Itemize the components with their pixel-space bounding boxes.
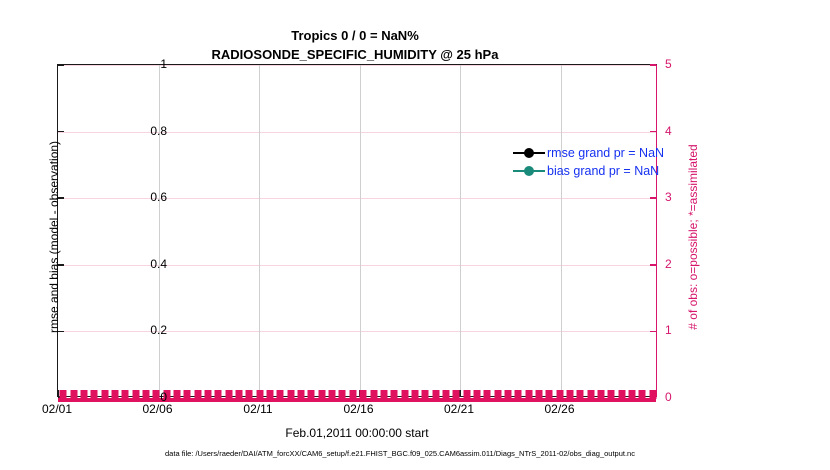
obs-marker: [132, 390, 139, 399]
obs-marker: [422, 390, 429, 399]
obs-marker: [298, 390, 305, 399]
obs-marker: [525, 390, 532, 399]
obs-marker: [205, 390, 212, 399]
obs-marker: [587, 390, 594, 399]
y-axis-right-tick-label: 1: [665, 323, 672, 337]
obs-marker: [401, 390, 408, 399]
gridline-horizontal: [58, 65, 656, 66]
x-axis-tick-label: 02/01: [42, 402, 72, 416]
obs-marker: [370, 390, 377, 399]
obs-marker: [515, 390, 522, 399]
y-axis-right-tick-label: 4: [665, 124, 672, 138]
obs-marker: [442, 390, 449, 399]
obs-marker: [411, 390, 418, 399]
axis-tick: [459, 390, 461, 396]
x-axis-tick-label: 02/06: [142, 402, 172, 416]
axis-tick: [58, 64, 64, 66]
obs-marker: [339, 390, 346, 399]
obs-marker: [380, 390, 387, 399]
x-axis-tick-label: 02/11: [243, 402, 272, 416]
legend-entry-rmse[interactable]: rmse grand pr = NaN: [513, 144, 713, 162]
gridline-horizontal: [58, 265, 656, 266]
axis-tick: [650, 397, 656, 399]
obs-marker: [484, 390, 491, 399]
obs-marker: [536, 390, 543, 399]
x-axis-tick-label: 02/21: [444, 402, 474, 416]
gridline-vertical: [360, 65, 361, 396]
axis-tick: [158, 390, 160, 396]
axis-tick: [560, 390, 562, 396]
obs-marker: [639, 390, 646, 399]
obs-marker: [173, 390, 180, 399]
y-axis-title-left: rmse and bias (model - observation): [47, 77, 61, 397]
y-axis-tick-label: 0.4: [150, 257, 167, 271]
obs-marker: [142, 390, 149, 399]
gridline-vertical: [561, 65, 562, 396]
obs-marker: [122, 390, 129, 399]
y-axis-tick-label: 0.8: [150, 124, 167, 138]
obs-marker: [546, 390, 553, 399]
chart-title-block: Tropics 0 / 0 = NaN% RADIOSONDE_SPECIFIC…: [0, 26, 710, 64]
obs-marker: [598, 390, 605, 399]
obs-marker: [391, 390, 398, 399]
obs-marker: [473, 390, 480, 399]
obs-marker: [360, 390, 367, 399]
axis-tick: [650, 331, 656, 333]
y-axis-right-tick-label: 5: [665, 57, 672, 71]
obs-marker: [287, 390, 294, 399]
y-axis-title-right: # of obs: o=possible; *=assimilated: [686, 77, 700, 397]
gridline-vertical: [460, 65, 461, 396]
obs-marker: [91, 390, 98, 399]
x-axis-title: Feb.01,2011 00:00:00 start: [57, 426, 657, 440]
obs-marker: [618, 390, 625, 399]
obs-marker: [111, 390, 118, 399]
obs-marker: [184, 390, 191, 399]
axis-tick: [650, 197, 656, 199]
plot-area: rmse grand pr = NaN bias grand pr = NaN: [57, 64, 657, 397]
obs-marker: [267, 390, 274, 399]
obs-marker: [494, 390, 501, 399]
obs-marker: [329, 390, 336, 399]
axis-tick: [258, 390, 260, 396]
obs-marker: [277, 390, 284, 399]
obs-marker: [194, 390, 201, 399]
y-axis-tick-label: 0.6: [150, 190, 167, 204]
rmse-line-marker-icon: [513, 146, 545, 160]
obs-marker: [308, 390, 315, 399]
data-file-footer: data file: /Users/raeder/DAI/ATM_forcXX/…: [0, 449, 800, 458]
bias-line-marker-icon: [513, 164, 545, 178]
obs-marker: [577, 390, 584, 399]
chart-legend: rmse grand pr = NaN bias grand pr = NaN: [513, 144, 713, 180]
chart-subtitle: RADIOSONDE_SPECIFIC_HUMIDITY @ 25 hPa: [0, 45, 710, 64]
obs-count-marker-series: [58, 389, 656, 401]
axis-tick: [58, 397, 64, 399]
obs-marker: [463, 390, 470, 399]
gridline-vertical: [259, 65, 260, 396]
obs-marker: [608, 390, 615, 399]
y-axis-right-tick-label: 3: [665, 190, 672, 204]
axis-tick: [359, 390, 361, 396]
legend-entry-bias[interactable]: bias grand pr = NaN: [513, 162, 713, 180]
obs-marker: [505, 390, 512, 399]
x-axis-tick-label: 02/26: [544, 402, 574, 416]
obs-marker: [432, 390, 439, 399]
obs-marker: [101, 390, 108, 399]
obs-marker: [318, 390, 325, 399]
gridline-horizontal: [58, 331, 656, 332]
gridline-horizontal: [58, 198, 656, 199]
axis-tick: [650, 264, 656, 266]
y-axis-right-tick-label: 0: [665, 390, 672, 404]
obs-marker: [629, 390, 636, 399]
y-axis-right-tick-label: 2: [665, 257, 672, 271]
legend-label-rmse: rmse grand pr = NaN: [545, 146, 664, 160]
y-axis-tick-label: 0.2: [150, 323, 167, 337]
obs-marker: [349, 390, 356, 399]
obs-marker: [236, 390, 243, 399]
axis-tick: [650, 64, 656, 66]
x-axis-tick-label: 02/16: [343, 402, 373, 416]
y-axis-tick-label: 1: [160, 57, 167, 71]
obs-marker: [246, 390, 253, 399]
gridline-horizontal: [58, 132, 656, 133]
obs-marker: [215, 390, 222, 399]
obs-marker: [567, 390, 574, 399]
obs-marker: [80, 390, 87, 399]
axis-tick: [650, 131, 656, 133]
obs-marker: [70, 390, 77, 399]
page-title: Tropics 0 / 0 = NaN%: [0, 26, 710, 45]
obs-marker: [225, 390, 232, 399]
gridline-vertical: [159, 65, 160, 396]
legend-label-bias: bias grand pr = NaN: [545, 164, 659, 178]
